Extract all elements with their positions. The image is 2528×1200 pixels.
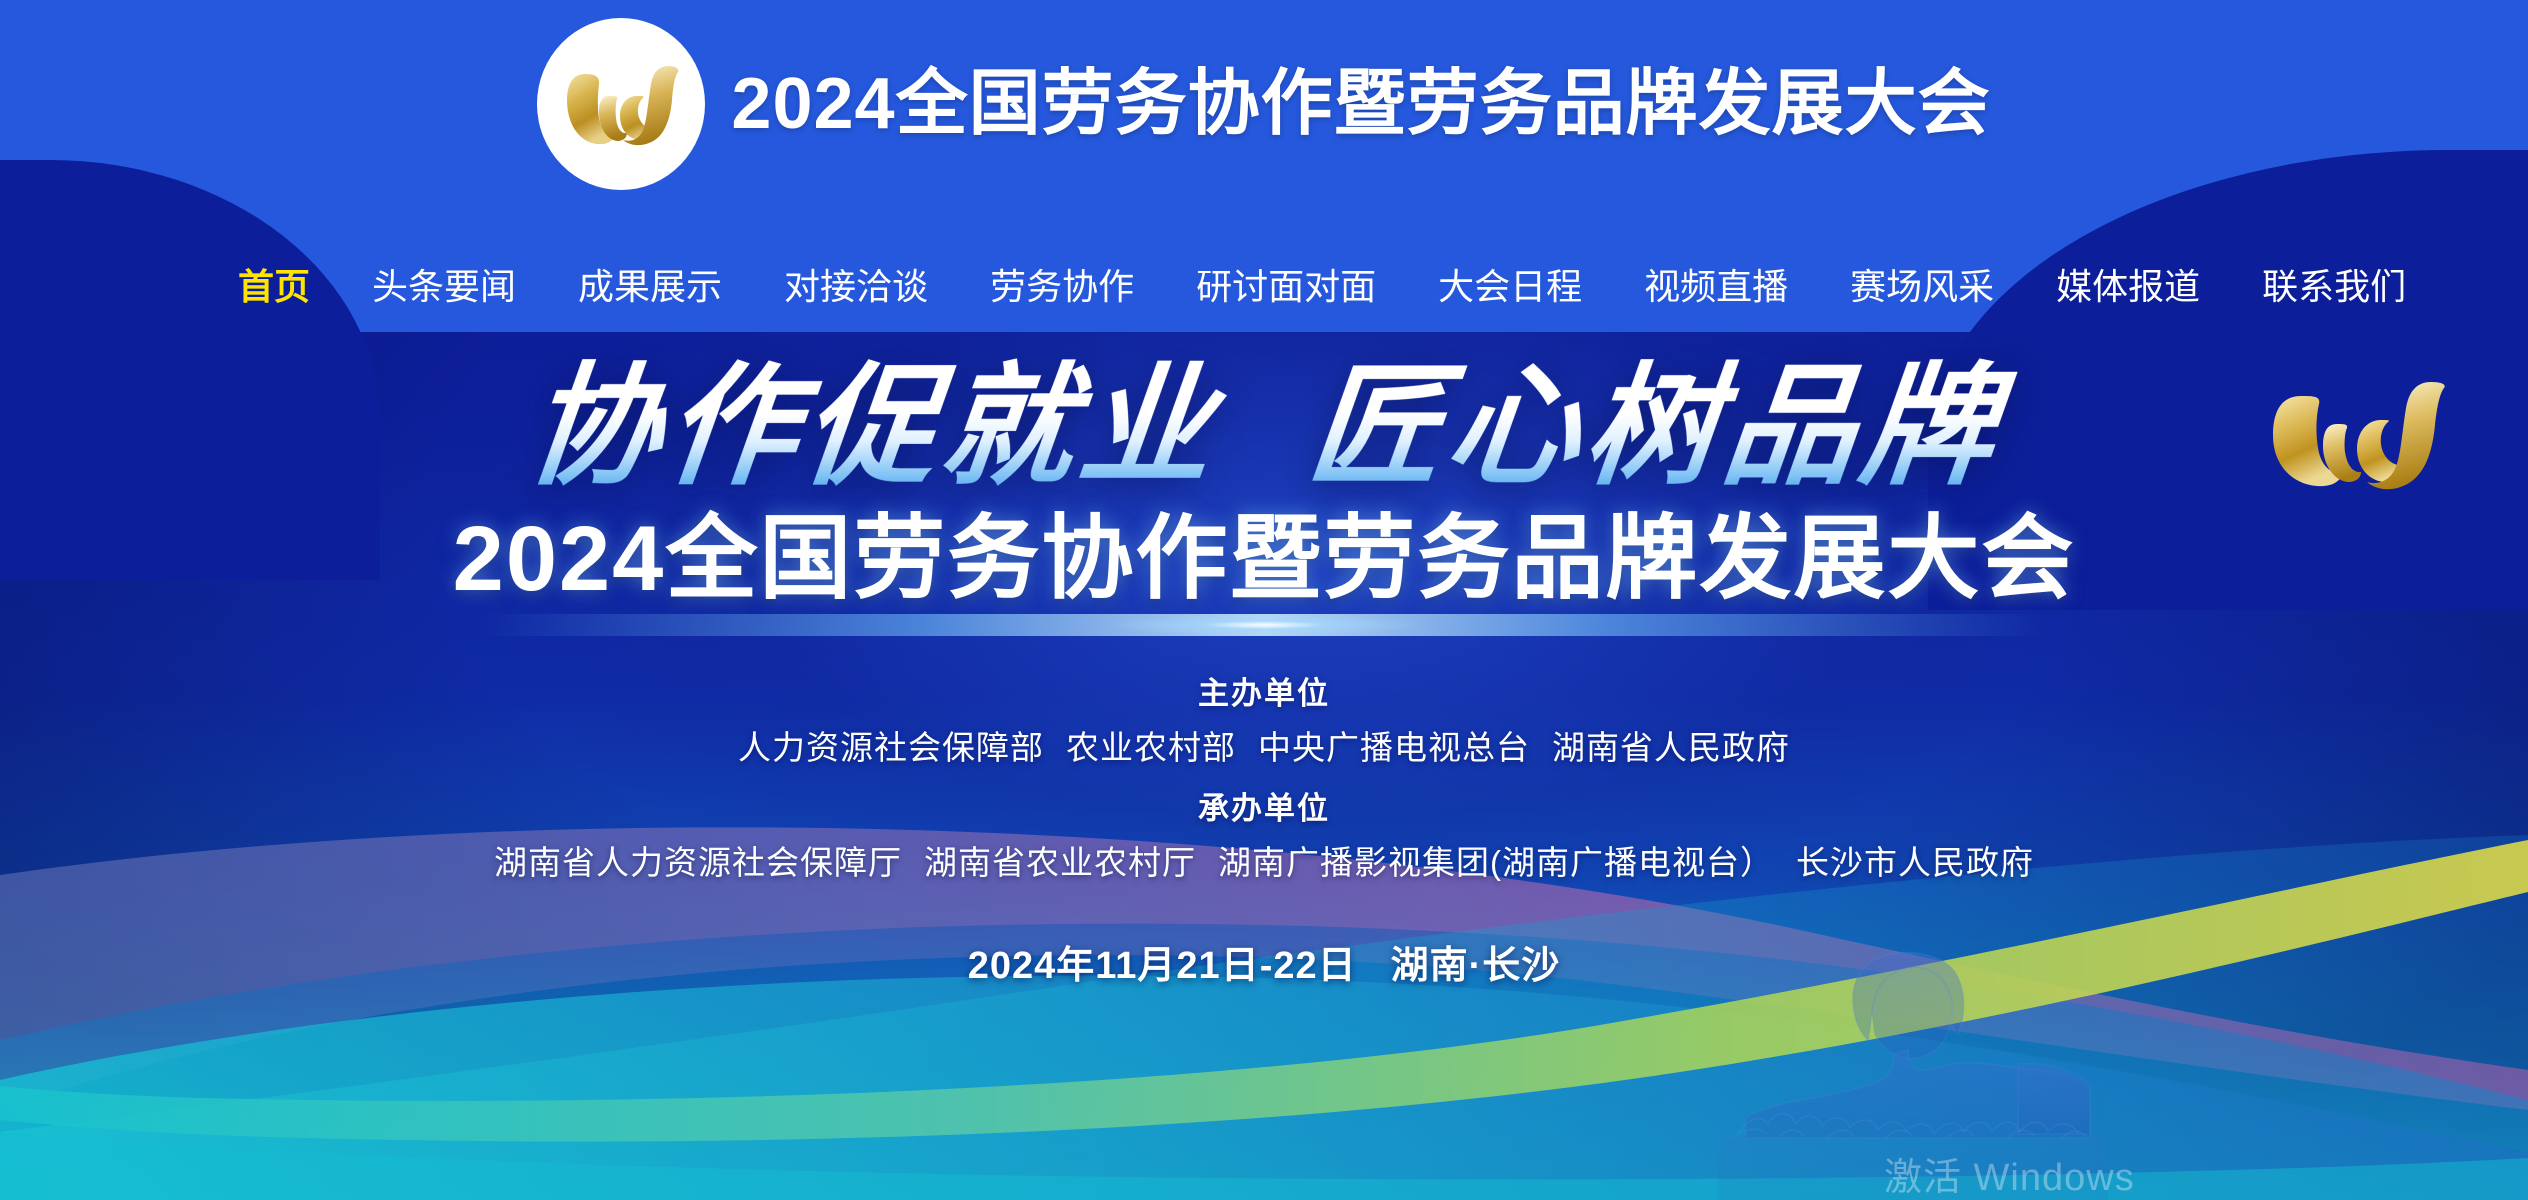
organizer-item: 人力资源社会保障部: [738, 729, 1044, 766]
co-organizer-item: 湖南省农业农村厅: [924, 844, 1196, 881]
org-spacer: [483, 773, 2045, 785]
organizer-item: 中央广播电视总台: [1258, 729, 1530, 766]
nav-item-home[interactable]: 首页: [238, 269, 310, 305]
co-organizer-item: 湖南广播影视集团(湖南广播电视台）: [1218, 844, 1774, 881]
hero-subtitle-wrap: 2024全国劳务协作暨劳务品牌发展大会: [453, 509, 2076, 610]
event-date-location: 2024年11月21日-22日湖南·长沙: [968, 934, 1561, 989]
co-organizers-list: 湖南省人力资源社会保障厅湖南省农业农村厅湖南广播影视集团(湖南广播电视台）长沙市…: [483, 837, 2045, 888]
hero-content: 协作促就业匠心树品牌 2024全国劳务协作暨劳务品牌发展大会 主办单位 人力资源…: [0, 356, 2528, 989]
nav-item-agenda[interactable]: 大会日程: [1438, 269, 1582, 305]
co-organizers-label: 承办单位: [483, 785, 2045, 833]
organizer-item: 湖南省人民政府: [1552, 729, 1790, 766]
co-organizer-item: 湖南省人力资源社会保障厅: [494, 844, 902, 881]
nav-item-contact[interactable]: 联系我们: [2262, 269, 2406, 305]
nav-item-seminar[interactable]: 研讨面对面: [1196, 269, 1376, 305]
header-title-row: 2024全国劳务协作暨劳务品牌发展大会: [0, 16, 2528, 191]
nav-item-competition[interactable]: 赛场风采: [1850, 269, 1994, 305]
nav-item-media[interactable]: 媒体报道: [2056, 269, 2200, 305]
organizer-item: 农业农村部: [1066, 729, 1236, 766]
light-beam-decoration: [484, 614, 2044, 636]
conference-w-emblem-icon: [537, 18, 705, 190]
nav-item-headlines[interactable]: 头条要闻: [372, 269, 516, 305]
organizer-block: 主办单位 人力资源社会保障部农业农村部中央广播电视总台湖南省人民政府 承办单位 …: [483, 670, 2045, 888]
nav-item-achievements[interactable]: 成果展示: [578, 269, 722, 305]
nav-item-livestream[interactable]: 视频直播: [1644, 269, 1788, 305]
event-date: 2024年11月21日-22日: [968, 945, 1357, 987]
co-organizer-item: 长沙市人民政府: [1796, 844, 2034, 881]
nav-item-matchmaking[interactable]: 对接洽谈: [784, 269, 928, 305]
hero-headline: 协作促就业匠心树品牌: [497, 356, 2032, 499]
page-title: 2024全国劳务协作暨劳务品牌发展大会: [731, 68, 1990, 140]
hero-subtitle: 2024全国劳务协作暨劳务品牌发展大会: [453, 509, 2076, 610]
conference-landing-page: 2024全国劳务协作暨劳务品牌发展大会 首页 头条要闻 成果展示 对接洽谈 劳务…: [0, 0, 2528, 1200]
hero-headline-right: 匠心树品牌: [1302, 353, 2007, 500]
event-location: 湖南·长沙: [1391, 945, 1561, 987]
nav-item-cooperation[interactable]: 劳务协作: [990, 269, 1134, 305]
hero-headline-left: 协作促就业: [520, 353, 1225, 500]
organizers-list: 人力资源社会保障部农业农村部中央广播电视总台湖南省人民政府: [483, 722, 2045, 773]
main-navigation: 首页 头条要闻 成果展示 对接洽谈 劳务协作 研讨面对面 大会日程 视频直播 赛…: [0, 252, 2528, 322]
organizers-label: 主办单位: [483, 670, 2045, 718]
